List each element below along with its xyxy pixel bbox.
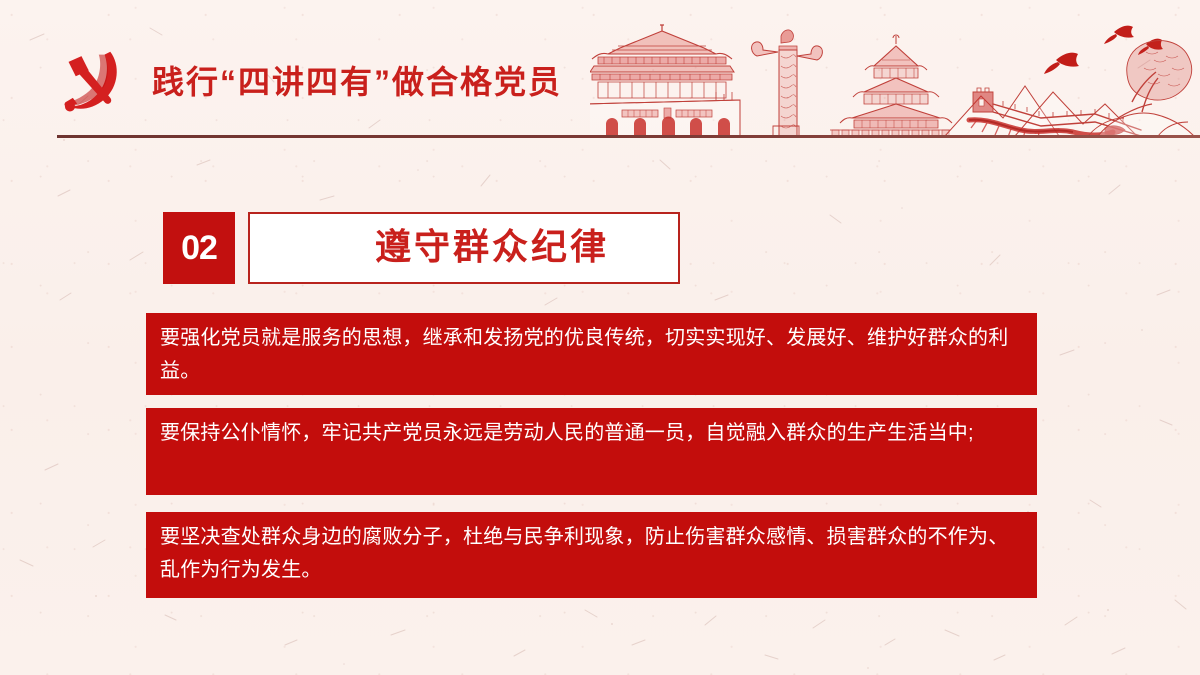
china-landmarks-line-art-icon bbox=[590, 0, 1200, 140]
content-block-1: 要强化党员就是服务的思想，继承和发扬党的优良传统，切实实现好、发展好、维护好群众… bbox=[146, 313, 1037, 395]
header-divider-rule bbox=[57, 135, 1200, 138]
content-block-2: 要保持公仆情怀，牢记共产党员永远是劳动人民的普通一员，自觉融入群众的生产生活当中… bbox=[146, 408, 1037, 495]
slide-canvas: 践行“四讲四有”做合格党员 bbox=[0, 0, 1200, 675]
section-title-text: 遵守群众纪律 bbox=[319, 229, 609, 267]
section-title-box: 遵守群众纪律 bbox=[248, 212, 680, 284]
party-emblem-hammer-sickle-icon bbox=[57, 46, 129, 118]
header-title: 践行“四讲四有”做合格党员 bbox=[152, 60, 562, 104]
content-block-3: 要坚决查处群众身边的腐败分子，杜绝与民争利现象，防止伤害群众感情、损害群众的不作… bbox=[146, 512, 1037, 598]
section-header: 02 遵守群众纪律 bbox=[163, 212, 680, 284]
section-number-badge: 02 bbox=[163, 212, 235, 284]
slide-header: 践行“四讲四有”做合格党员 bbox=[0, 0, 1200, 145]
